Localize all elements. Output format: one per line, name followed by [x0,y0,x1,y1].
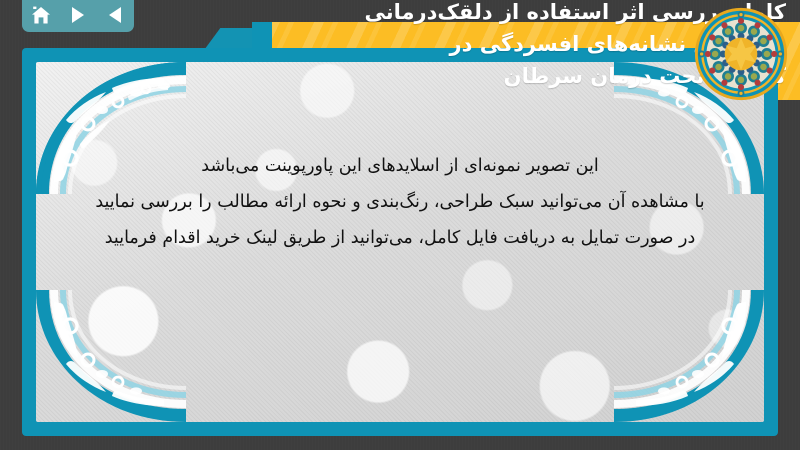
body-line-1: این تصویر نمونه‌ای از اسلایدهای این پاور… [36,148,764,184]
triangle-left-icon [107,6,123,24]
slide-body-text: این تصویر نمونه‌ای از اسلایدهای این پاور… [36,148,764,256]
navigation-toolbar[interactable] [22,0,134,32]
body-line-2: با مشاهده آن می‌توانید سبک طراحی، رنگ‌بن… [36,184,764,220]
persian-mandala-medallion-icon [693,6,789,102]
slide-frame: این تصویر نمونه‌ای از اسلایدهای این پاور… [22,48,778,436]
slide-viewer: کامل بررسی اثر استفاده از دلقک‌درمانی بر… [0,0,800,450]
home-button[interactable] [27,3,55,27]
back-button[interactable] [101,3,129,27]
body-line-3: در صورت تمایل به دریافت فایل کامل، می‌تو… [36,220,764,256]
persian-arabesque-corner-bottom-right [614,290,764,422]
slide-canvas: این تصویر نمونه‌ای از اسلایدهای این پاور… [36,62,764,422]
forward-button[interactable] [64,3,92,27]
triangle-right-icon [70,6,86,24]
persian-arabesque-corner-bottom-left [36,290,186,422]
home-icon [31,6,51,25]
